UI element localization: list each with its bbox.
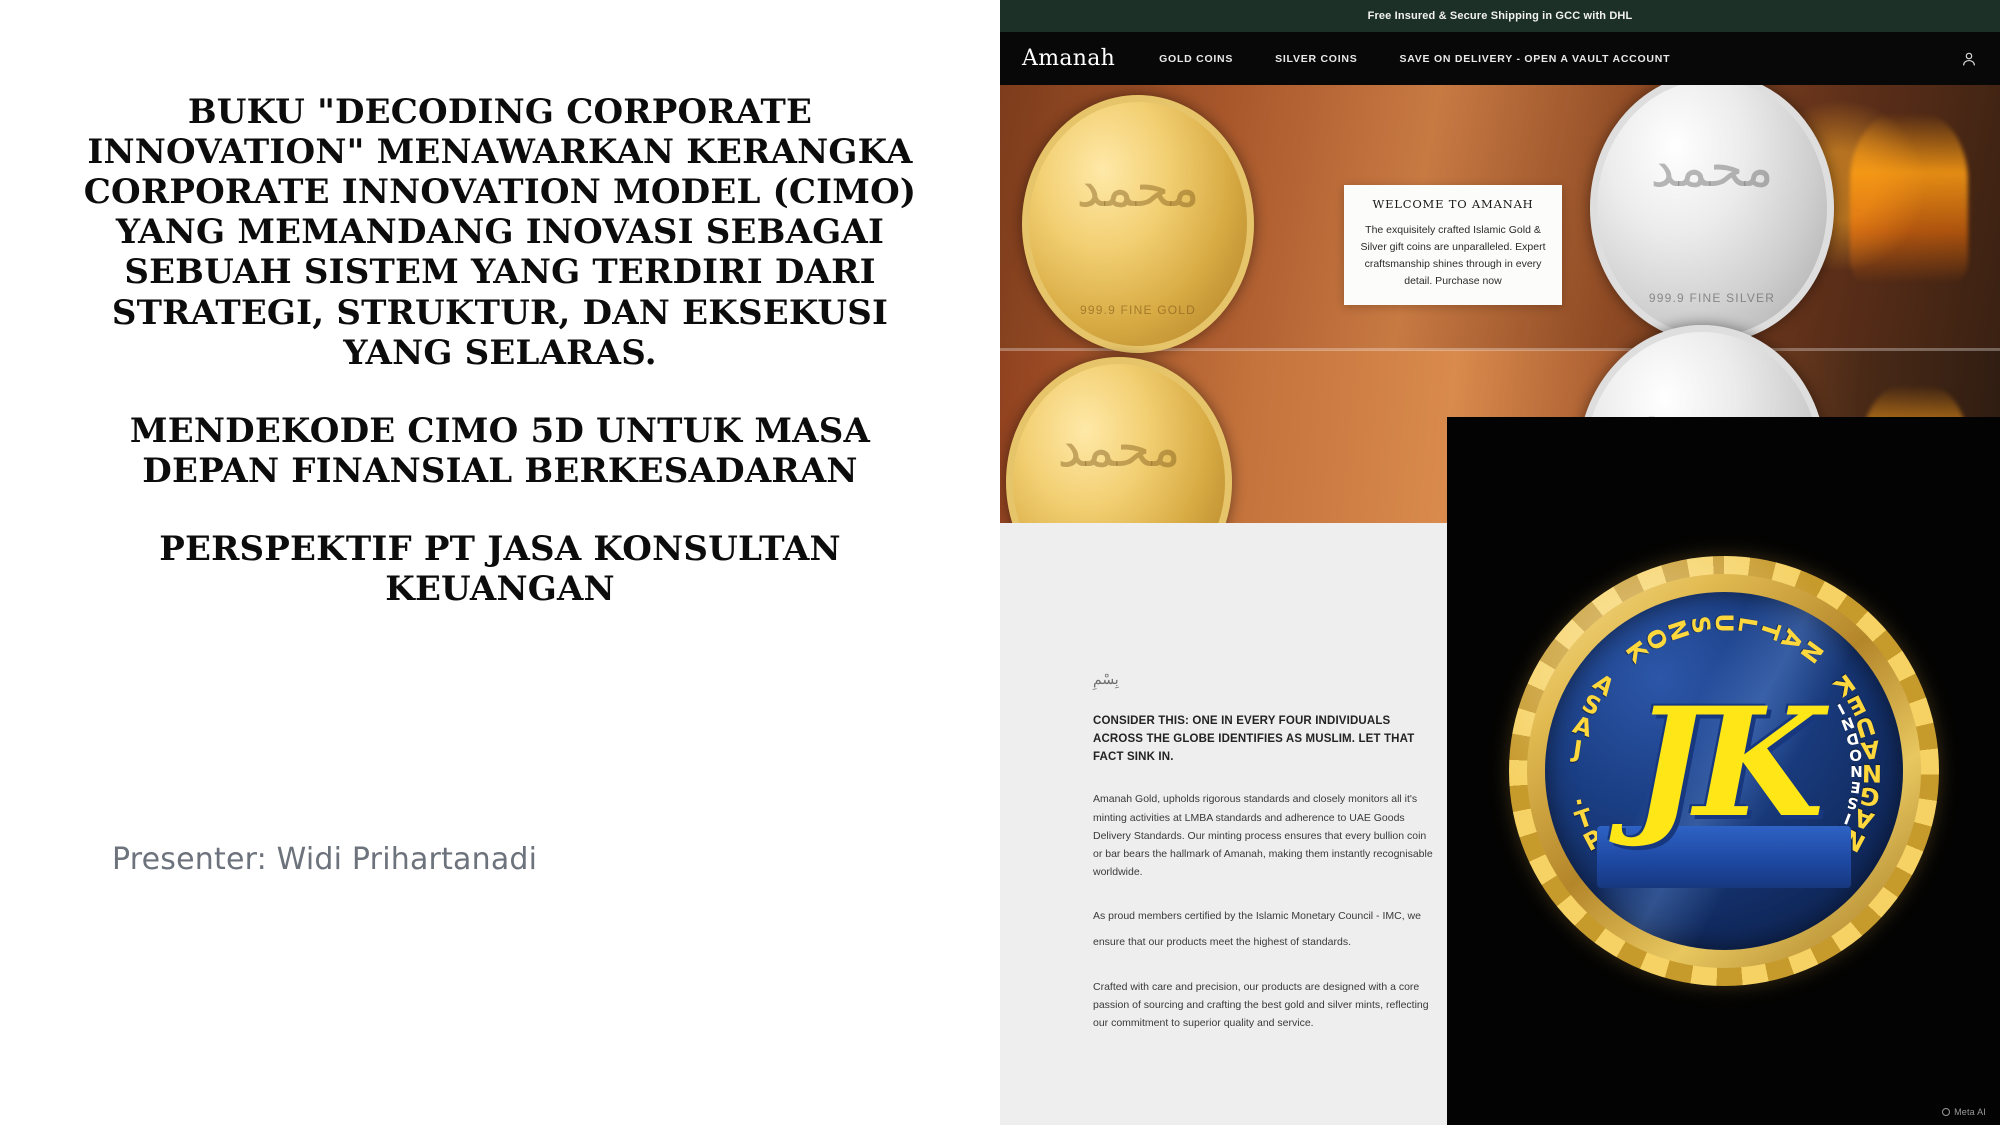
nav-link-vault-account[interactable]: SAVE ON DELIVERY - OPEN A VAULT ACCOUNT — [1399, 53, 1670, 65]
gold-coin-fineness-upper: 999.9 FINE GOLD — [1029, 303, 1247, 317]
title-spacer-1 — [60, 373, 940, 411]
meta-ai-watermark: Meta AI — [1942, 1107, 1986, 1117]
article-paragraph-2: As proud members certified by the Islami… — [1093, 903, 1438, 957]
title-paragraph-1: BUKU "DECODING CORPORATE INNOVATION" MEN… — [60, 92, 940, 373]
jkk-seal-logo: PT. JASA KONSULTAN KEUANGAN I N D O N E … — [1509, 556, 1939, 986]
welcome-card-body: The exquisitely crafted Islamic Gold & S… — [1358, 222, 1548, 290]
article-lead: CONSIDER THIS: ONE IN EVERY FOUR INDIVID… — [1093, 712, 1438, 766]
article-paragraph-3: Crafted with care and precision, our pro… — [1093, 978, 1438, 1032]
fire-glow-upper — [1850, 113, 1968, 283]
title-spacer-2 — [60, 491, 940, 529]
welcome-card-heading: WELCOME TO AMANAH — [1358, 197, 1548, 211]
seal-monogram-jk: JK — [1609, 668, 1839, 858]
logo-panel: PT. JASA KONSULTAN KEUANGAN I N D O N E … — [1447, 417, 2000, 1125]
article-paragraph-1: Amanah Gold, upholds rigorous standards … — [1093, 790, 1438, 880]
silver-coin-fineness-upper: 999.9 FINE SILVER — [1597, 291, 1827, 305]
slide-title-block: BUKU "DECODING CORPORATE INNOVATION" MEN… — [60, 92, 940, 609]
meta-ai-label: Meta AI — [1954, 1107, 1986, 1117]
person-icon[interactable] — [1960, 50, 1978, 68]
welcome-card: WELCOME TO AMANAH The exquisitely crafte… — [1344, 185, 1562, 305]
title-paragraph-3: PERSPEKTIF PT JASA KONSULTAN KEUANGAN — [60, 529, 940, 609]
nav-link-silver-coins[interactable]: SILVER COINS — [1275, 53, 1357, 65]
gold-coin-arabic-lower: محمد — [1013, 421, 1225, 475]
silver-coin-arabic-upper: محمد — [1597, 141, 1827, 195]
site-navbar: Amanah GOLD COINS SILVER COINS SAVE ON D… — [1000, 32, 2000, 85]
title-panel: BUKU "DECODING CORPORATE INNOVATION" MEN… — [0, 0, 1000, 1125]
nav-link-gold-coins[interactable]: GOLD COINS — [1159, 53, 1233, 65]
announcement-text: Free Insured & Secure Shipping in GCC wi… — [1368, 10, 1633, 22]
silver-coin-upper: محمد 999.9 FINE SILVER — [1590, 85, 1834, 343]
bismillah-text: بِسْمِ — [1093, 671, 1438, 688]
website-screenshot-panel: Free Insured & Secure Shipping in GCC wi… — [1000, 0, 2000, 1125]
gold-coin-upper: محمد 999.9 FINE GOLD — [1022, 95, 1254, 353]
nav-links: GOLD COINS SILVER COINS SAVE ON DELIVERY… — [1159, 53, 1670, 65]
title-paragraph-2: MENDEKODE CIMO 5D UNTUK MASA DEPAN FINAN… — [60, 411, 940, 491]
announcement-bar: Free Insured & Secure Shipping in GCC wi… — [1000, 0, 2000, 32]
gold-coin-arabic-upper: محمد — [1029, 161, 1247, 215]
presenter-line: Presenter: Widi Prihartanadi — [112, 842, 932, 877]
article-column: بِسْمِ CONSIDER THIS: ONE IN EVERY FOUR … — [1093, 671, 1438, 1054]
site-logo-amanah[interactable]: Amanah — [1022, 46, 1115, 71]
circle-icon — [1942, 1108, 1950, 1116]
slide-canvas: BUKU "DECODING CORPORATE INNOVATION" MEN… — [0, 0, 2000, 1125]
